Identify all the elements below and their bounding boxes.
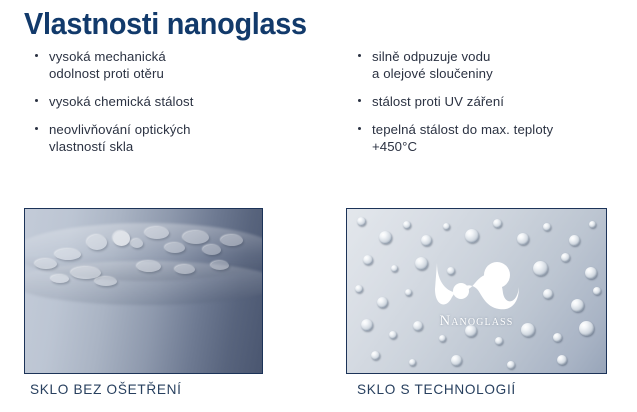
feature-sheet-page: Vlastnosti nanoglass vysoká mechanická o… — [0, 0, 637, 412]
feature-text-line: stálost proti UV záření — [372, 93, 637, 110]
list-item: tepelná stálost do max. teploty +450°C — [357, 121, 637, 155]
feature-columns: vysoká mechanická odolnost proti otěru v… — [0, 48, 637, 155]
water-film-blob — [137, 261, 161, 272]
water-bead — [589, 221, 596, 228]
water-bead — [543, 289, 553, 299]
figure-captions: SKLO BEZ OŠETŘENÍ SKLO S TECHNOLOGIÍ — [0, 382, 637, 408]
feature-list-left: vysoká mechanická odolnost proti otěru v… — [34, 48, 340, 155]
feature-text-line: neovlivňování optických — [49, 121, 340, 138]
feature-list-right: silně odpuzuje vodu a olejové sloučeniny… — [357, 48, 637, 155]
list-item: neovlivňování optických vlastností skla — [34, 121, 340, 155]
list-item: vysoká chemická stálost — [34, 93, 340, 110]
water-film-blob — [55, 249, 81, 260]
water-bead — [557, 355, 567, 365]
water-film-blob — [211, 261, 229, 270]
water-bead — [447, 267, 455, 275]
water-bead — [593, 287, 601, 295]
bullet-dot-icon — [358, 99, 361, 102]
water-film-blob — [113, 231, 130, 246]
feature-text-line: a olejové sloučeniny — [372, 65, 637, 82]
water-film-blob — [87, 235, 107, 250]
water-film-blob — [203, 245, 221, 255]
water-film-blob — [131, 239, 143, 248]
water-bead — [521, 323, 535, 337]
water-film-blob — [71, 267, 101, 279]
water-film-blob — [165, 243, 185, 253]
water-film-blob — [183, 231, 209, 244]
list-item: stálost proti UV záření — [357, 93, 637, 110]
water-film-blob — [95, 277, 117, 286]
water-bead — [585, 267, 597, 279]
feature-text-line: vysoká mechanická — [49, 48, 340, 65]
water-bead — [579, 321, 594, 336]
water-bead — [451, 355, 462, 366]
water-bead — [389, 331, 397, 339]
water-film-blob — [175, 265, 195, 274]
list-item: silně odpuzuje vodu a olejové sloučeniny — [357, 48, 637, 82]
figure-treated-glass: Nanoglass — [346, 208, 607, 374]
water-bead — [355, 285, 363, 293]
comparison-figures: Nanoglass — [0, 208, 637, 374]
water-bead — [409, 359, 416, 366]
water-bead — [465, 325, 477, 337]
feature-text-line: vysoká chemická stálost — [49, 93, 340, 110]
water-bead — [379, 231, 392, 244]
bullet-dot-icon — [358, 127, 361, 130]
water-bead — [391, 265, 398, 272]
feature-column-right: silně odpuzuje vodu a olejové sloučeniny… — [340, 48, 637, 155]
untreated-glass-image — [25, 209, 262, 373]
water-bead — [543, 223, 551, 231]
water-film-blob — [221, 235, 243, 246]
water-film-blob — [145, 227, 169, 239]
list-item: vysoká mechanická odolnost proti otěru — [34, 48, 340, 82]
water-bead — [421, 235, 432, 246]
water-bead — [413, 321, 423, 331]
bullet-dot-icon — [35, 99, 38, 102]
caption-untreated: SKLO BEZ OŠETŘENÍ — [30, 382, 182, 397]
water-bead — [517, 233, 529, 245]
water-bead — [405, 289, 412, 296]
water-bead — [415, 257, 428, 270]
feature-text-line: silně odpuzuje vodu — [372, 48, 637, 65]
water-bead — [361, 319, 373, 331]
water-bead — [465, 229, 479, 243]
water-bead — [443, 223, 450, 230]
water-bead — [569, 235, 580, 246]
figure-untreated-glass — [24, 208, 263, 374]
treated-glass-image: Nanoglass — [347, 209, 606, 373]
water-bead — [377, 297, 388, 308]
bullet-dot-icon — [35, 54, 38, 57]
page-title: Vlastnosti nanoglass — [24, 6, 307, 42]
caption-treated: SKLO S TECHNOLOGIÍ — [357, 382, 516, 397]
water-bead — [363, 255, 373, 265]
feature-text-line: tepelná stálost do max. teploty — [372, 121, 637, 138]
water-bead — [357, 217, 366, 226]
water-film-blob — [35, 259, 57, 269]
feature-column-left: vysoká mechanická odolnost proti otěru v… — [0, 48, 340, 155]
feature-text-line: +450°C — [372, 138, 637, 155]
bullet-dot-icon — [358, 54, 361, 57]
bullet-dot-icon — [35, 127, 38, 130]
water-bead — [403, 221, 411, 229]
water-bead — [439, 335, 446, 342]
water-bead — [533, 261, 548, 276]
water-bead — [507, 361, 515, 369]
water-film-blob — [51, 275, 69, 283]
water-bead — [553, 333, 562, 342]
water-bead — [571, 299, 584, 312]
feature-text-line: vlastností skla — [49, 138, 340, 155]
feature-text-line: odolnost proti otěru — [49, 65, 340, 82]
water-bead — [493, 219, 502, 228]
water-bead — [561, 253, 570, 262]
water-bead — [495, 337, 503, 345]
water-bead — [371, 351, 380, 360]
